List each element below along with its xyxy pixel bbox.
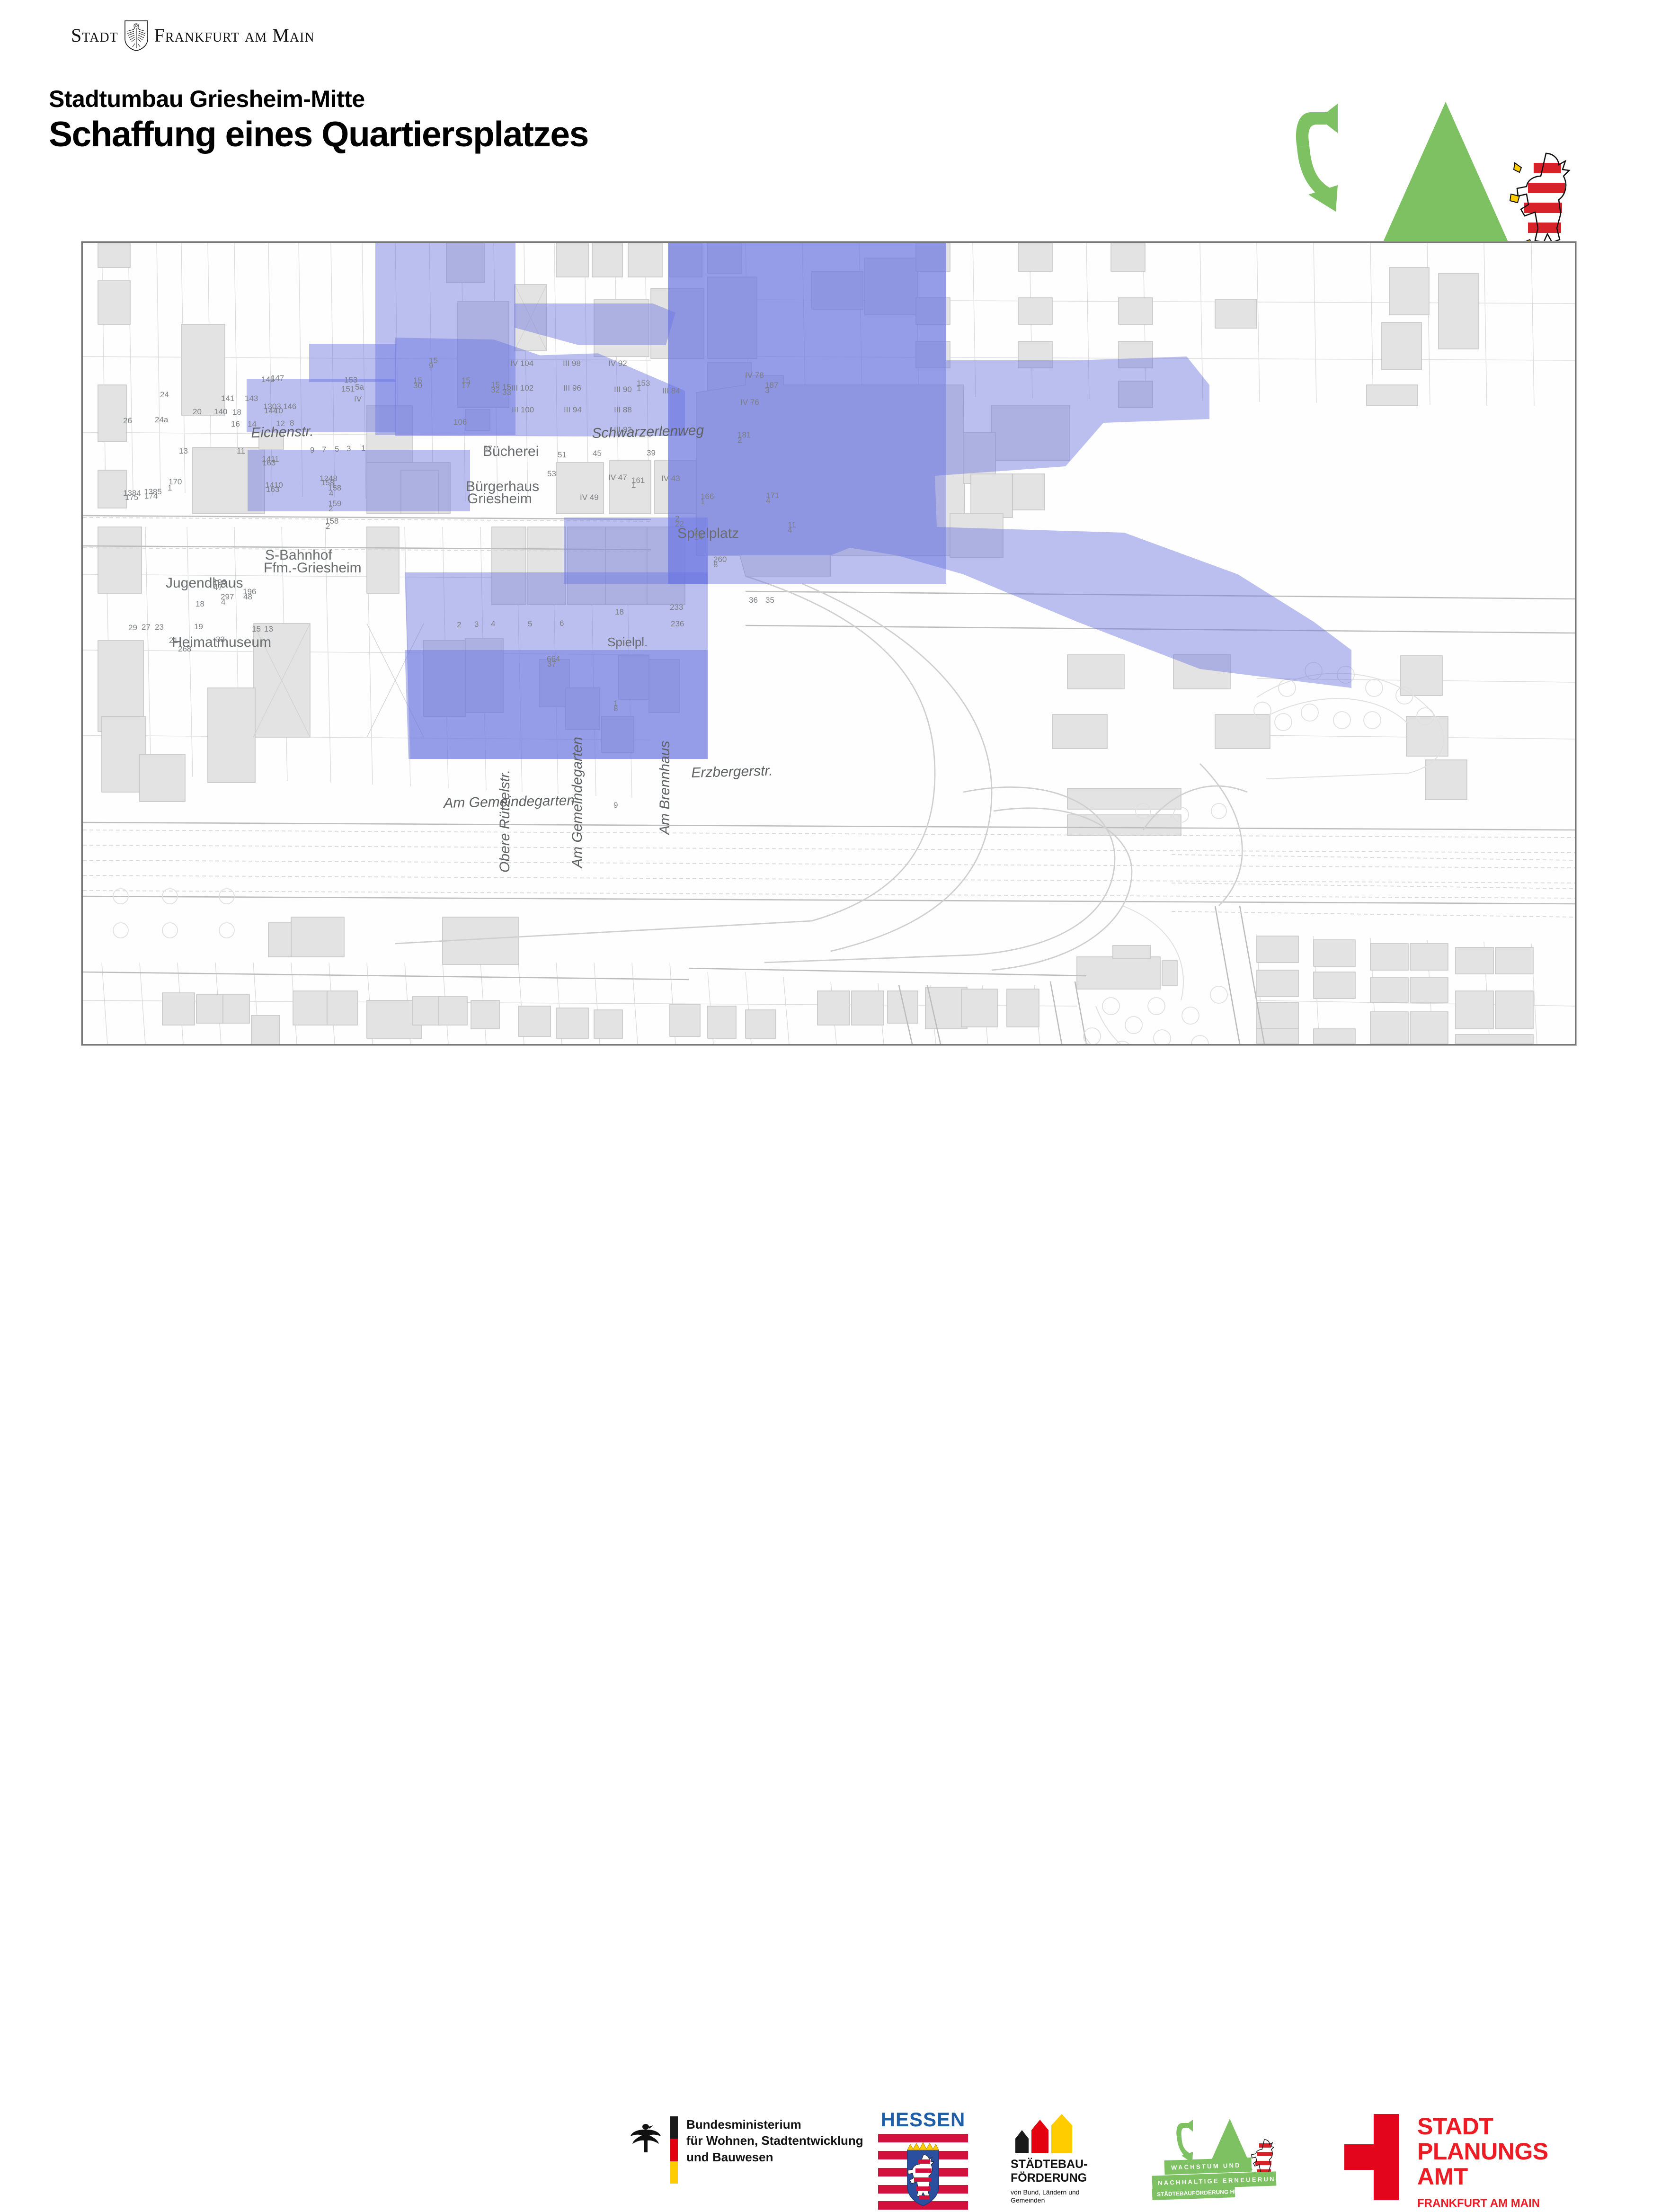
house-number-label: 18	[195, 599, 204, 609]
house-number-label: 236	[671, 619, 684, 629]
house-number-label: 29	[128, 623, 137, 633]
bmwsb-line2: für Wohnen, Stadtentwicklung	[686, 2132, 863, 2149]
page-subtitle: Stadtumbau Griesheim-Mitte	[49, 85, 365, 113]
stadtplanungsamt-line2: PLANUNGS	[1417, 2139, 1548, 2164]
house-number-label: 18	[615, 607, 624, 617]
house-number-label: 106	[453, 418, 467, 427]
staedtebau-sub1: von Bund, Ländern und	[1011, 2188, 1119, 2197]
house-number-label: 141	[221, 394, 234, 403]
house-number-label: 2	[457, 620, 461, 630]
house-number-label: 1	[361, 444, 365, 453]
hessen-wordmark: HESSEN	[878, 2108, 968, 2131]
house-number-label: 2	[326, 522, 330, 531]
house-number-label: 2	[329, 504, 333, 514]
program-logo-small-line3: STÄDTEBAUFÖRDERUNG HESSEN	[1152, 2186, 1235, 2200]
street-label: Erzbergerstr.	[691, 763, 773, 781]
house-number-label: 53	[547, 469, 556, 479]
house-number-label: 4	[221, 598, 225, 607]
place-label: Griesheim	[467, 491, 532, 507]
house-number-label: IV 104	[510, 359, 533, 368]
cadastral-map[interactable]: Eichenstr.SchwarzerlenwegAm Gemeindegart…	[81, 241, 1576, 1045]
house-number-label: 233	[670, 603, 683, 612]
bmwsb-logo: Bundesministerium für Wohnen, Stadtentwi…	[630, 2116, 863, 2184]
city-wordmark-right: Frankfurt am Main	[154, 26, 315, 45]
bmwsb-line3: und Bauwesen	[686, 2149, 863, 2165]
hessen-flag-shield-icon	[878, 2134, 968, 2210]
house-number-label: 4	[329, 489, 333, 499]
house-number-label: 7	[322, 445, 326, 455]
house-number-label: IV 49	[580, 493, 599, 502]
house-number-label: IV 78	[745, 371, 764, 380]
house-number-label: III 102	[511, 384, 533, 393]
house-number-label: 24a	[155, 415, 168, 425]
house-number-label: 3	[346, 444, 351, 454]
house-number-label: 3	[765, 386, 769, 395]
quartiersplatz-highlight-area	[83, 243, 1575, 1044]
house-number-label: 144	[264, 406, 277, 416]
green-tree-arrow-inner-icon	[1407, 154, 1484, 244]
street-label: Am Gemeindegarten	[569, 737, 586, 868]
german-flag-bar-icon	[670, 2116, 678, 2184]
street-label: Obere Rützelstr.	[497, 770, 513, 873]
house-number-label: 163	[266, 485, 279, 494]
house-number-label: 19	[194, 622, 203, 632]
place-label: Spielplatz	[677, 526, 739, 542]
house-number-label: IV	[354, 394, 362, 404]
house-number-label: III 98	[563, 359, 581, 368]
house-number-label: III 84	[662, 386, 680, 396]
house-number-label: 9	[613, 801, 618, 810]
house-number-label: III 96	[563, 384, 581, 393]
street-label: Schwarzerlenweg	[592, 422, 704, 442]
house-number-label: 33	[502, 388, 511, 397]
house-number-label: 16	[231, 419, 240, 429]
stadtplanungsamt-mark-icon	[1344, 2114, 1399, 2200]
house-number-label: 48	[243, 592, 252, 602]
house-number-label: 8	[613, 704, 618, 714]
house-number-label: 32	[491, 385, 500, 395]
house-number-label: 1	[637, 384, 641, 393]
house-number-label: 15	[252, 624, 261, 634]
house-number-label: 140	[214, 407, 227, 417]
frankfurt-eagle-crest-icon	[124, 20, 149, 51]
house-number-label: 5	[335, 445, 339, 454]
staedtebau-line2: FÖRDERUNG	[1011, 2171, 1119, 2185]
house-number-label: 18	[232, 408, 241, 417]
place-label: Spielpl.	[607, 635, 648, 650]
house-number-label: 146	[283, 402, 296, 411]
stadtplanungsamt-line1: STADT	[1417, 2114, 1548, 2139]
program-logo-small-line1: WACHSTUM UND	[1164, 2158, 1252, 2175]
city-wordmark-left: Stadt	[71, 26, 118, 45]
house-number-label: 11	[237, 446, 245, 456]
house-number-label: 5	[528, 619, 532, 629]
place-label: Jugendhaus	[166, 575, 243, 591]
house-number-label: III 88	[614, 405, 632, 415]
page-title: Schaffung eines Quartiersplatzes	[49, 114, 588, 154]
house-number-label: IV 47	[608, 473, 627, 482]
house-number-label: 4	[788, 526, 792, 535]
footer-logo-bar: Bundesministerium für Wohnen, Stadtentwi…	[0, 1049, 1661, 1174]
house-number-label: 13	[179, 446, 188, 456]
bundesadler-icon	[630, 2119, 662, 2156]
house-number-label: 8	[290, 419, 294, 428]
staedtebau-sub2: Gemeinden	[1011, 2196, 1119, 2205]
house-number-label: 13	[264, 624, 273, 634]
house-number-label: 36	[749, 596, 758, 605]
hessen-lion-icon	[1501, 147, 1576, 256]
house-number-label: 17	[462, 381, 471, 391]
house-number-label: III 100	[512, 405, 534, 415]
recycle-arrow-icon	[1292, 102, 1377, 220]
house-number-label: 26	[123, 416, 132, 426]
three-houses-icon	[1011, 2114, 1119, 2153]
house-number-label: 37	[547, 660, 556, 669]
stadtplanungsamt-sub: FRANKFURT AM MAIN	[1417, 2197, 1548, 2210]
stadtplanungsamt-logo: STADT PLANUNGS AMT FRANKFURT AM MAIN	[1344, 2114, 1548, 2210]
house-number-label: 30	[413, 381, 422, 391]
house-number-label: 268	[178, 644, 191, 654]
bmwsb-line1: Bundesministerium	[686, 2116, 863, 2132]
house-number-label: 23	[155, 623, 164, 632]
house-number-label: 143	[245, 394, 258, 403]
house-number-label: 6	[560, 619, 564, 628]
house-number-label: 14	[694, 533, 703, 542]
program-logo-small: WACHSTUM UND NACHHALTIGE ERNEUERUNG STÄD…	[1155, 2114, 1306, 2209]
house-number-label: 4	[491, 619, 495, 629]
house-number-label: IV 92	[608, 359, 627, 368]
house-number-label: 163	[262, 458, 275, 468]
city-wordmark: Stadt Frankfurt am Main	[71, 20, 315, 51]
house-number-label: 9	[310, 446, 314, 455]
stadtplanungsamt-line3: AMT	[1417, 2164, 1548, 2189]
house-number-label: 147	[271, 374, 284, 383]
hessen-logo: HESSEN	[878, 2108, 968, 2210]
house-number-label: 33	[216, 635, 225, 644]
house-number-label: IV 76	[740, 398, 759, 407]
street-label: Am Brennhaus	[657, 741, 673, 835]
staedtebaufoerderung-logo: STÄDTEBAU- FÖRDERUNG von Bund, Ländern u…	[1011, 2114, 1119, 2205]
staedtebau-line1: STÄDTEBAU-	[1011, 2158, 1119, 2171]
place-label: Ffm.-Griesheim	[264, 560, 362, 576]
house-number-label: 24	[160, 390, 169, 400]
house-number-label: 175	[125, 493, 138, 502]
house-number-label: III 90	[614, 385, 632, 394]
house-number-label: 174	[144, 491, 158, 501]
house-number-label: 27	[142, 623, 151, 632]
house-number-label: 151	[341, 384, 355, 394]
house-number-label: 45	[593, 449, 602, 458]
house-number-label: 47	[213, 583, 222, 592]
house-number-label: III 94	[564, 405, 582, 415]
house-number-label: 22	[675, 519, 684, 529]
house-number-label: IV 43	[661, 474, 680, 483]
house-number-label: III 82	[614, 425, 632, 435]
house-number-label: 14	[248, 419, 257, 429]
house-number-label: 3	[474, 620, 479, 629]
house-number-label: 12	[276, 419, 285, 428]
house-number-label: 1	[701, 497, 705, 507]
house-number-label: 21	[169, 636, 178, 645]
house-number-label: 51	[558, 450, 567, 460]
house-number-label: 35	[765, 596, 774, 605]
house-number-label: 1	[168, 483, 172, 493]
house-number-label: 20	[193, 407, 202, 417]
house-number-label: 39	[647, 448, 656, 458]
house-number-label: 8	[713, 560, 718, 570]
house-number-label: 4	[766, 496, 770, 506]
house-number-label: 5a	[355, 383, 364, 392]
house-number-label: 1	[631, 481, 636, 490]
house-number-label: 9	[429, 361, 433, 371]
house-number-label: 57	[483, 444, 492, 454]
house-number-label: 2	[737, 436, 742, 445]
